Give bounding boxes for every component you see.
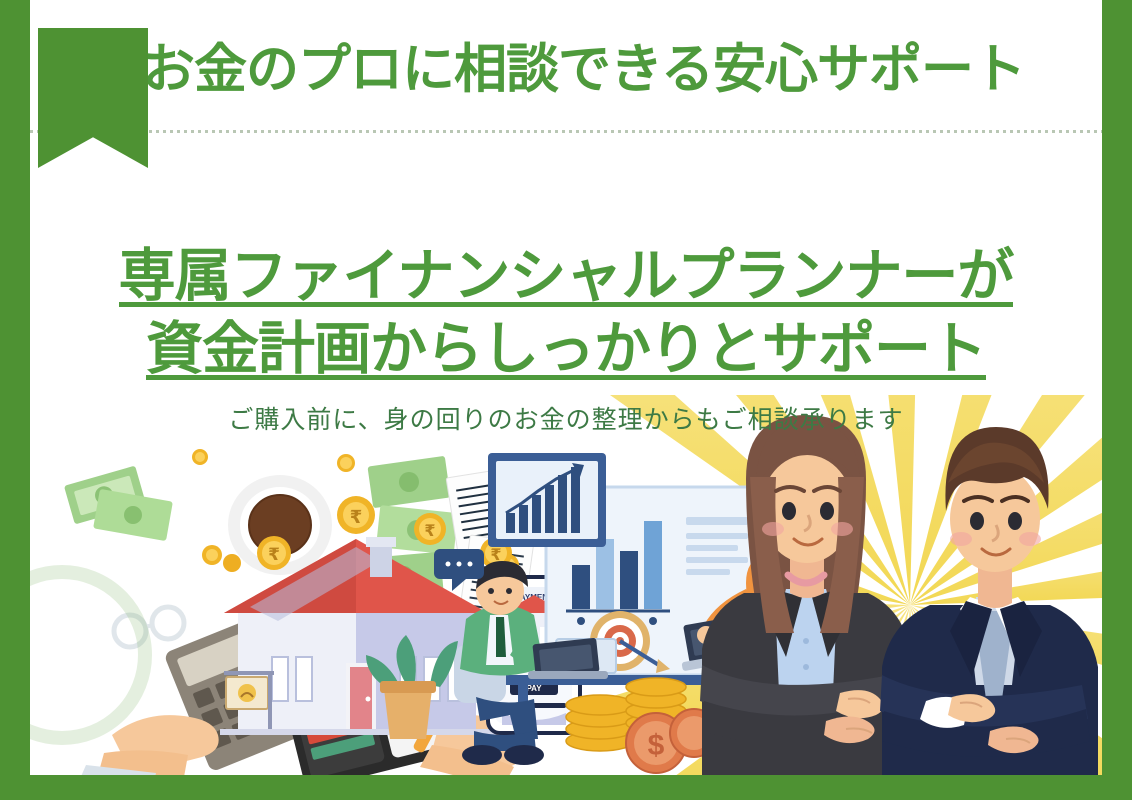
svg-text:₹: ₹ <box>350 507 363 528</box>
rupee-symbol: ₹ <box>268 545 280 565</box>
phone-pay-button-label: PAY <box>526 684 542 693</box>
headline-line-1: 専属ファイナンシャルプランナーが <box>119 240 1014 313</box>
illustration-band: ₹ ₹ ₹ ₹ <box>30 395 1102 775</box>
headline-subtitle: ご購入前に、身の回りのお金の整理からもご相談承ります <box>30 400 1102 436</box>
section-number-ribbon <box>38 28 148 168</box>
header-divider <box>30 130 1102 133</box>
page-title: お金のプロに相談できる安心サポート <box>142 40 1102 99</box>
slide-root: 04 お金のプロに相談できる安心サポート 専属ファイナンシャルプランナーが 資金… <box>0 0 1132 800</box>
slide-inner-panel: 04 お金のプロに相談できる安心サポート 専属ファイナンシャルプランナーが 資金… <box>30 0 1102 775</box>
svg-text:₹: ₹ <box>424 521 435 540</box>
laptop-icon <box>528 638 608 679</box>
headline-block: 専属ファイナンシャルプランナーが 資金計画からしっかりとサポート ご購入前に、身… <box>30 240 1102 436</box>
dollar-symbol: $ <box>648 729 665 762</box>
headline-line-2: 資金計画からしっかりとサポート <box>146 313 986 386</box>
slide-header: 04 お金のプロに相談できる安心サポート <box>30 0 1102 150</box>
illustration-svg: ₹ ₹ ₹ ₹ <box>30 395 1102 775</box>
growth-chart-board <box>488 453 606 547</box>
